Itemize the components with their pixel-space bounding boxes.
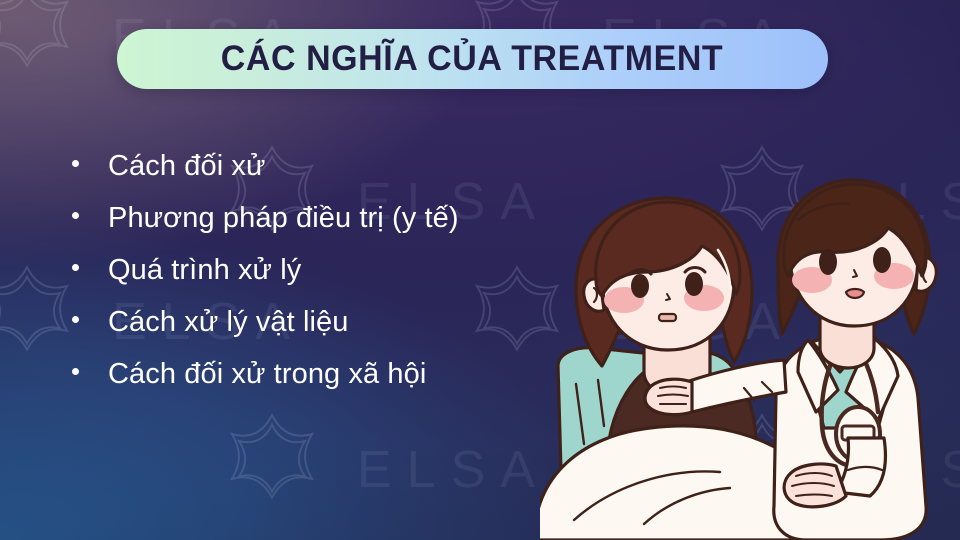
meaning-list: Cách đối xử Phương pháp điều trị (y tế) … — [72, 152, 592, 412]
list-item-label: Phương pháp điều trị (y tế) — [108, 204, 459, 233]
bullet-dot-icon — [72, 264, 79, 271]
page-title: CÁC NGHĨA CỦA TREATMENT — [221, 39, 723, 79]
list-item: Cách đối xử trong xã hội — [72, 360, 592, 412]
list-item: Phương pháp điều trị (y tế) — [72, 204, 592, 256]
bullet-dot-icon — [72, 316, 79, 323]
list-item-label: Cách xử lý vật liệu — [108, 308, 349, 337]
list-item-label: Cách đối xử — [108, 152, 266, 181]
slide-title-pill: CÁC NGHĨA CỦA TREATMENT — [117, 29, 828, 89]
list-item: Quá trình xử lý — [72, 256, 592, 308]
list-item: Cách xử lý vật liệu — [72, 308, 592, 360]
list-item-label: Quá trình xử lý — [108, 256, 301, 285]
list-item-label: Cách đối xử trong xã hội — [108, 360, 426, 389]
list-item: Cách đối xử — [72, 152, 592, 204]
doctor-examining-patient-illustration — [540, 176, 960, 540]
bullet-dot-icon — [72, 160, 79, 167]
slide-canvas: ELSA ELSA — [0, 0, 960, 540]
bullet-dot-icon — [72, 368, 79, 375]
bullet-dot-icon — [72, 212, 79, 219]
